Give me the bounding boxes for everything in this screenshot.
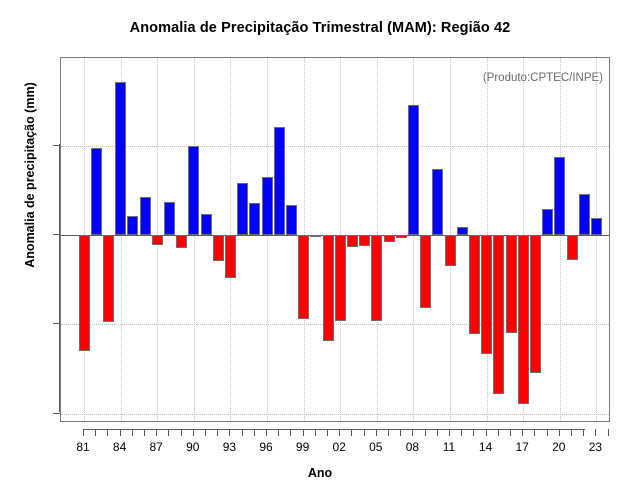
- bar-2020: [554, 157, 565, 235]
- x-tick-mark: [547, 429, 548, 436]
- bar-2001: [323, 235, 334, 341]
- bar-1984: [115, 82, 126, 235]
- x-tick-mark: [242, 429, 243, 436]
- x-tick-mark: [83, 429, 84, 436]
- bar-1999: [298, 235, 309, 319]
- x-tick-mark: [156, 429, 157, 436]
- bar-2006: [384, 235, 395, 242]
- bar-1993: [225, 235, 236, 278]
- y-tick-mark: [53, 323, 60, 324]
- x-tick-label: 20: [539, 440, 579, 454]
- bar-1987: [152, 235, 163, 245]
- bar-2002: [335, 235, 346, 321]
- bar-1981: [79, 235, 90, 351]
- bar-1990: [188, 146, 199, 235]
- y-tick-mark: [53, 145, 60, 146]
- x-tick-mark: [266, 429, 267, 436]
- x-tick-mark: [449, 429, 450, 436]
- bar-1992: [213, 235, 224, 261]
- x-tick-mark: [144, 429, 145, 436]
- x-tick-mark: [376, 429, 377, 436]
- bar-1985: [127, 216, 138, 235]
- x-tick-label: 90: [173, 440, 213, 454]
- x-tick-label: 17: [502, 440, 542, 454]
- producer-annotation: (Produto:CPTEC/INPE): [483, 72, 603, 84]
- bar-1997: [274, 127, 285, 235]
- gridline-horizontal: [61, 146, 609, 147]
- bar-2005: [371, 235, 382, 321]
- x-tick-label: 23: [575, 440, 615, 454]
- y-tick-mark: [53, 413, 60, 414]
- plot-area: (Produto:CPTEC/INPE): [60, 57, 610, 422]
- bar-1996: [262, 177, 273, 235]
- gridline-vertical: [596, 58, 597, 421]
- bar-2017: [518, 235, 529, 404]
- gridline-vertical: [267, 58, 268, 421]
- x-tick-mark: [595, 429, 596, 436]
- bar-2014: [481, 235, 492, 354]
- bar-2019: [542, 209, 553, 235]
- x-tick-mark: [510, 429, 511, 436]
- x-tick-mark: [400, 429, 401, 436]
- bar-1988: [164, 202, 175, 235]
- x-tick-mark: [181, 429, 182, 436]
- x-tick-mark: [217, 429, 218, 436]
- x-tick-mark: [425, 429, 426, 436]
- x-tick-mark: [278, 429, 279, 436]
- x-tick-mark: [120, 429, 121, 436]
- bar-2021: [567, 235, 578, 260]
- x-tick-mark: [339, 429, 340, 436]
- x-tick-mark: [290, 429, 291, 436]
- bar-2008: [408, 105, 419, 235]
- x-tick-label: 96: [246, 440, 286, 454]
- bar-2007: [396, 235, 407, 238]
- bar-2010: [432, 169, 443, 235]
- bar-2013: [469, 235, 480, 334]
- x-tick-mark: [522, 429, 523, 436]
- x-tick-mark: [327, 429, 328, 436]
- x-tick-mark: [168, 429, 169, 436]
- x-tick-mark: [364, 429, 365, 436]
- bar-2012: [457, 227, 468, 235]
- bar-2022: [579, 194, 590, 235]
- x-tick-mark: [315, 429, 316, 436]
- x-axis-title: Ano: [0, 466, 640, 480]
- bar-2016: [506, 235, 517, 333]
- chart-title: Anomalia de Precipitação Trimestral (MAM…: [0, 20, 640, 36]
- bar-1994: [237, 183, 248, 235]
- bar-2015: [493, 235, 504, 394]
- bar-2023: [591, 218, 602, 235]
- bar-2009: [420, 235, 431, 308]
- bar-1983: [103, 235, 114, 322]
- x-tick-label: 93: [209, 440, 249, 454]
- bar-1986: [140, 197, 151, 235]
- y-axis-title: Anomalia de precipitação (mm): [23, 25, 37, 325]
- bar-1982: [91, 148, 102, 235]
- x-tick-mark: [412, 429, 413, 436]
- x-tick-mark: [205, 429, 206, 436]
- x-tick-mark: [486, 429, 487, 436]
- x-tick-mark: [229, 429, 230, 436]
- x-tick-mark: [461, 429, 462, 436]
- x-tick-label: 08: [392, 440, 432, 454]
- x-tick-mark: [303, 429, 304, 436]
- x-tick-mark: [498, 429, 499, 436]
- x-tick-mark: [95, 429, 96, 436]
- gridline-vertical: [560, 58, 561, 421]
- x-tick-mark: [559, 429, 560, 436]
- bar-2004: [359, 235, 370, 246]
- x-tick-label: 81: [63, 440, 103, 454]
- x-tick-label: 84: [100, 440, 140, 454]
- bar-2018: [530, 235, 541, 373]
- x-tick-mark: [534, 429, 535, 436]
- chart-container: Anomalia de Precipitação Trimestral (MAM…: [0, 0, 640, 500]
- x-tick-mark: [132, 429, 133, 436]
- x-tick-mark: [351, 429, 352, 436]
- x-tick-mark: [388, 429, 389, 436]
- x-tick-mark: [608, 429, 609, 436]
- x-tick-label: 11: [429, 440, 469, 454]
- x-tick-mark: [254, 429, 255, 436]
- bar-1995: [249, 203, 260, 235]
- x-tick-label: 99: [283, 440, 323, 454]
- x-tick-mark: [107, 429, 108, 436]
- gridline-horizontal: [61, 414, 609, 415]
- x-tick-mark: [583, 429, 584, 436]
- x-tick-label: 14: [466, 440, 506, 454]
- x-tick-label: 05: [356, 440, 396, 454]
- x-tick-mark: [193, 429, 194, 436]
- bar-1989: [176, 235, 187, 248]
- bar-1991: [201, 214, 212, 235]
- x-tick-mark: [437, 429, 438, 436]
- bar-2000: [310, 235, 321, 237]
- gridline-vertical: [194, 58, 195, 421]
- x-tick-label: 02: [319, 440, 359, 454]
- x-tick-label: 87: [136, 440, 176, 454]
- bar-2011: [445, 235, 456, 266]
- bar-1998: [286, 205, 297, 235]
- y-tick-mark: [53, 234, 60, 235]
- x-tick-mark: [473, 429, 474, 436]
- x-tick-mark: [571, 429, 572, 436]
- bar-2003: [347, 235, 358, 247]
